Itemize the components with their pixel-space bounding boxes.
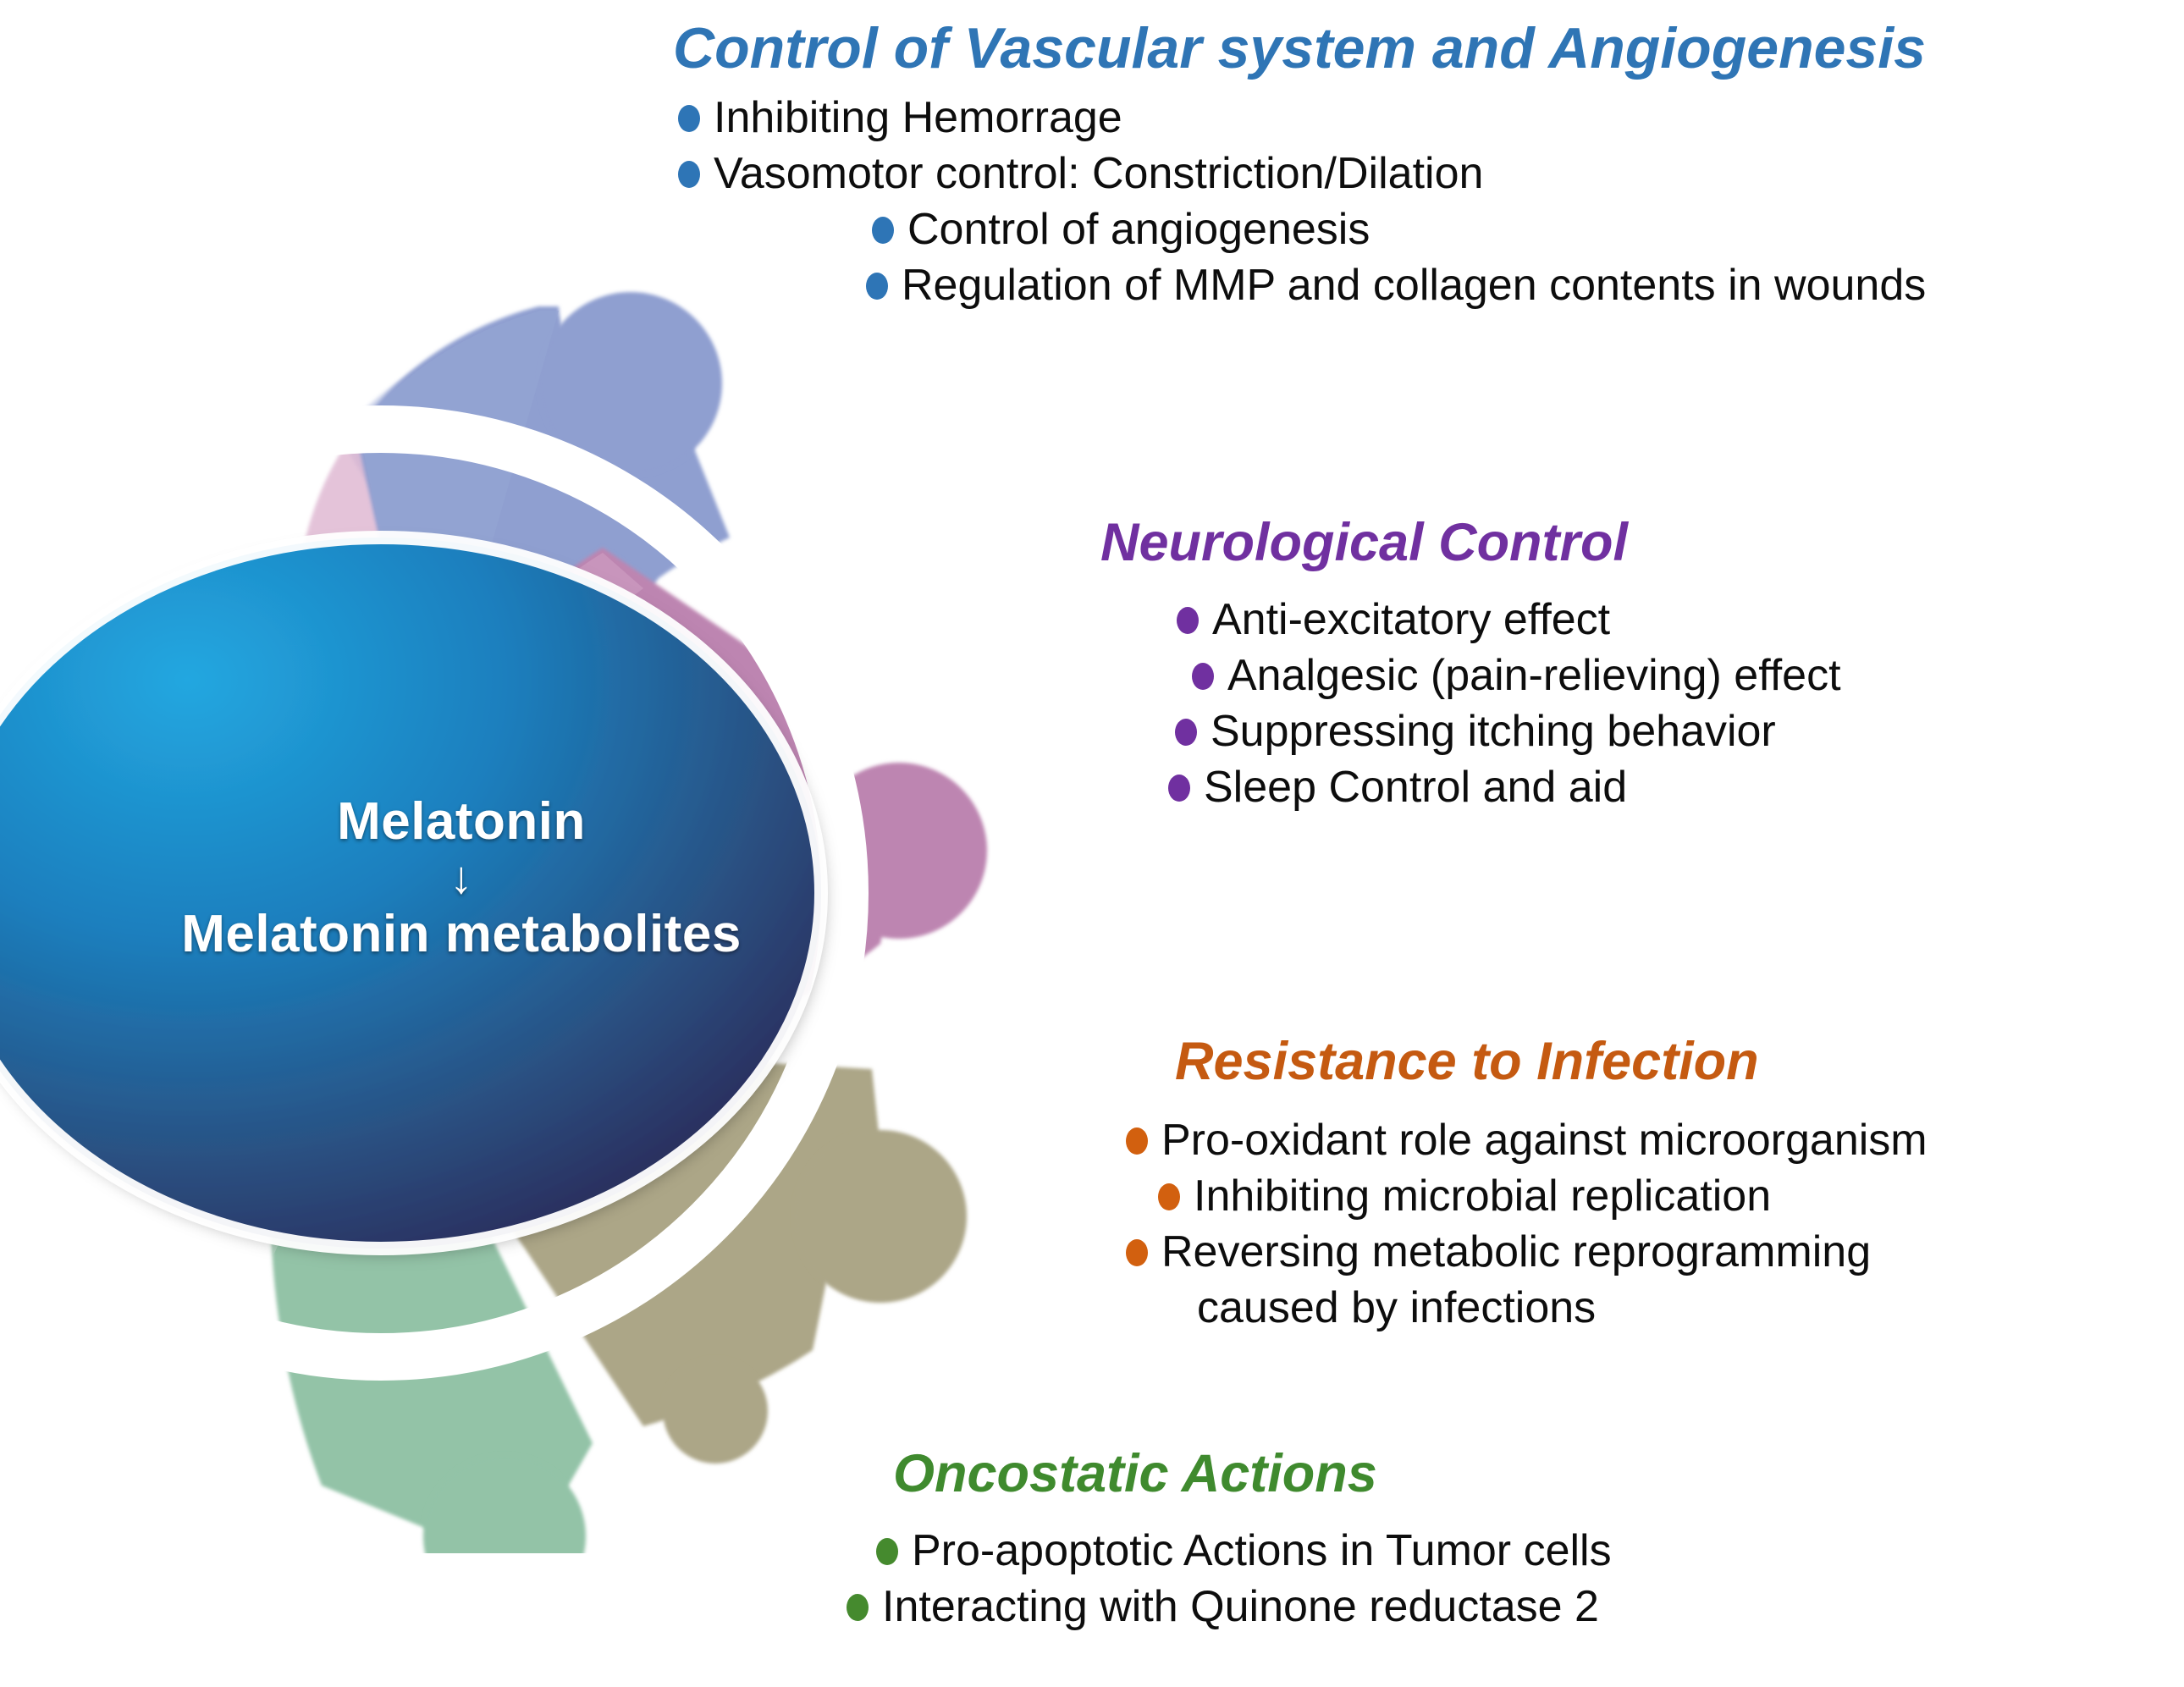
bullet-dot-icon <box>1126 1127 1148 1155</box>
bullet-dot-icon <box>678 161 700 188</box>
bullet-dot-icon <box>1175 719 1197 746</box>
list-item: Control of angiogenesis <box>872 201 2184 257</box>
bullet-label: Vasomotor control: Constriction/Dilation <box>714 146 1483 201</box>
bullet-label: Control of angiogenesis <box>907 201 1370 257</box>
bullet-label: Interacting with Quinone reductase 2 <box>882 1579 1599 1635</box>
bullet-label: Analgesic (pain-relieving) effect <box>1227 648 1841 703</box>
bullet-label: Inhibiting Hemorrage <box>714 90 1122 146</box>
bullet-label: Reversing metabolic reprogramming caused… <box>1161 1224 1871 1336</box>
section-vascular: Control of Vascular system and Angiogene… <box>673 0 2184 313</box>
bullet-label: Pro-apoptotic Actions in Tumor cells <box>912 1523 1612 1579</box>
list-item: Reversing metabolic reprogramming caused… <box>1126 1224 2184 1336</box>
bullet-dot-icon <box>678 105 700 132</box>
bullet-list-infection: Pro-oxidant role against microorganism I… <box>1126 1112 2184 1336</box>
bullet-label: Suppressing itching behavior <box>1211 703 1776 759</box>
bullet-label: Sleep Control and aid <box>1204 759 1627 815</box>
bullet-dot-icon <box>1168 775 1190 802</box>
list-item: Analgesic (pain-relieving) effect <box>1192 648 2184 703</box>
diagram-canvas: Melatonin ↓ Melatonin metabolites Contro… <box>0 0 2184 1687</box>
list-item: Interacting with Quinone reductase 2 <box>847 1579 1977 1635</box>
bullet-list-neurological: Anti-excitatory effect Analgesic (pain-r… <box>1084 592 2184 815</box>
bullet-list-oncostatic: Pro-apoptotic Actions in Tumor cells Int… <box>876 1523 1977 1635</box>
section-neurological: Neurological Control Anti-excitatory eff… <box>1084 512 2184 815</box>
list-item: Inhibiting microbial replication <box>1158 1168 2184 1224</box>
list-item: Vasomotor control: Constriction/Dilation <box>678 146 2184 201</box>
bullet-dot-icon <box>1177 607 1199 634</box>
section-title-neurological: Neurological Control <box>1100 512 2184 573</box>
section-oncostatic: Oncostatic Actions Pro-apoptotic Actions… <box>876 1443 1977 1635</box>
list-item: Sleep Control and aid <box>1168 759 2184 815</box>
list-item: Anti-excitatory effect <box>1177 592 2184 648</box>
bullet-dot-icon <box>872 217 894 244</box>
list-item: Pro-oxidant role against microorganism <box>1126 1112 2184 1168</box>
bullet-dot-icon <box>847 1594 869 1621</box>
section-title-oncostatic: Oncostatic Actions <box>893 1443 1977 1504</box>
section-title-infection: Resistance to Infection <box>1175 1031 2184 1092</box>
bullet-label: Inhibiting microbial replication <box>1194 1168 1771 1224</box>
bullet-dot-icon <box>1126 1239 1148 1266</box>
bullet-list-vascular: Inhibiting Hemorrage Vasomotor control: … <box>673 90 2184 313</box>
bullet-label: Regulation of MMP and collagen contents … <box>902 257 1926 313</box>
bullet-label-line2: caused by infections <box>1197 1280 1871 1336</box>
list-item: Suppressing itching behavior <box>1175 703 2184 759</box>
bullet-dot-icon <box>866 273 888 300</box>
section-infection: Resistance to Infection Pro-oxidant role… <box>1126 1031 2184 1336</box>
bullet-label: Anti-excitatory effect <box>1212 592 1610 648</box>
bullet-label: Pro-oxidant role against microorganism <box>1161 1112 1928 1168</box>
bullet-dot-icon <box>1192 663 1214 690</box>
list-item: Pro-apoptotic Actions in Tumor cells <box>876 1523 1977 1579</box>
bullet-dot-icon <box>876 1538 898 1565</box>
bullet-label-line1: Reversing metabolic reprogramming <box>1161 1227 1871 1276</box>
melatonin-puzzle-wheel <box>0 182 1236 1553</box>
list-item: Regulation of MMP and collagen contents … <box>866 257 2184 313</box>
section-title-vascular: Control of Vascular system and Angiogene… <box>673 15 2184 81</box>
list-item: Inhibiting Hemorrage <box>678 90 2184 146</box>
bullet-dot-icon <box>1158 1183 1180 1210</box>
